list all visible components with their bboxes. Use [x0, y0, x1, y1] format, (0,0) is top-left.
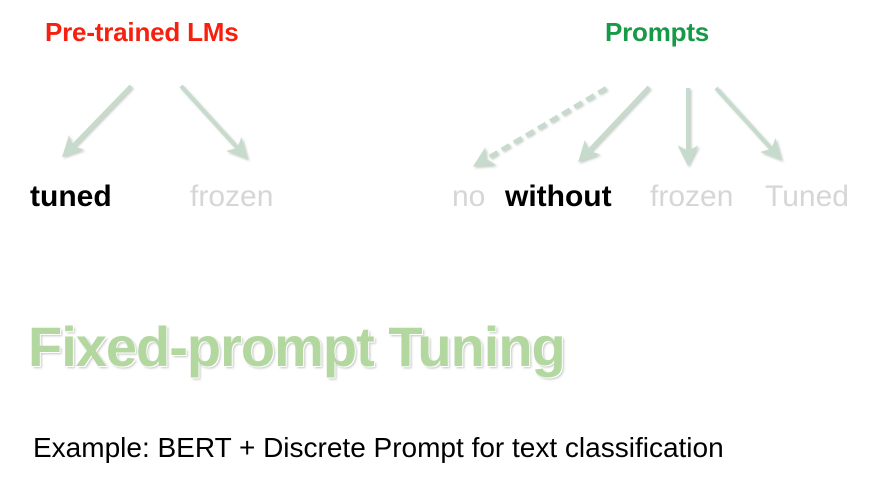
arrow-prompts-to-without	[583, 87, 649, 157]
label-frozen-left: frozen	[190, 182, 273, 212]
label-tuned-left: tuned	[30, 182, 112, 212]
arrow-layer	[0, 0, 881, 489]
label-tuned-right: Tuned	[765, 182, 849, 212]
heading-prompts: Prompts	[605, 19, 709, 45]
label-without: without	[505, 182, 612, 212]
section-title: Fixed-prompt Tuning	[28, 318, 565, 377]
label-no: no	[452, 182, 485, 212]
arrow-pretrained-to-tuned	[67, 86, 131, 152]
label-frozen-right: frozen	[650, 182, 733, 212]
arrow-prompts-to-tuned	[716, 88, 777, 155]
arrow-pretrained-to-frozen	[181, 86, 243, 154]
arrow-prompts-to-no	[479, 88, 606, 163]
caption-text: Example: BERT + Discrete Prompt for text…	[33, 434, 724, 462]
heading-pre-trained-lms: Pre-trained LMs	[45, 19, 239, 45]
slide-canvas: Pre-trained LMs Prompts tuned frozen no …	[0, 0, 881, 489]
